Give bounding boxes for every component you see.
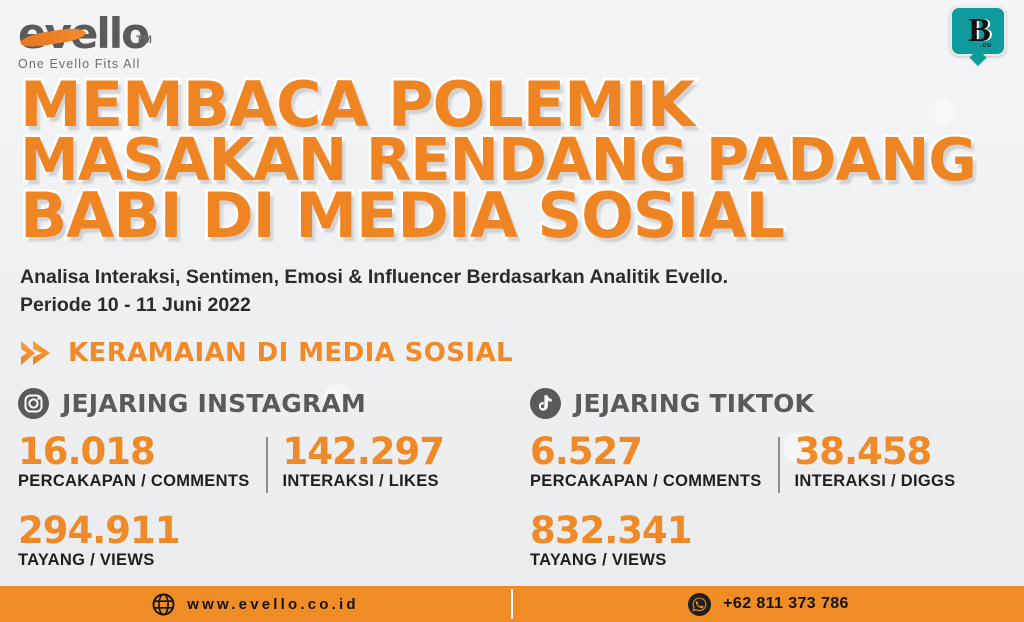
headline-block: MEMBACA POLEMIK MASAKAN RENDANG PADANG B… — [20, 76, 1004, 244]
double-chevron-right-icon — [20, 338, 54, 368]
subtitle-line-1: Analisa Interaksi, Sentimen, Emosi & Inf… — [20, 264, 1000, 292]
tiktok-icon — [530, 388, 561, 419]
stat-label: INTERAKSI / DIGGS — [795, 472, 956, 491]
stat-diggs-tiktok: 38.458 INTERAKSI / DIGGS — [795, 433, 956, 491]
network-header-instagram: JEJARING INSTAGRAM — [18, 388, 518, 419]
footer-website[interactable]: www.evello.co.id — [0, 586, 511, 622]
stat-label: INTERAKSI / LIKES — [283, 472, 445, 491]
stat-label: TAYANG / VIEWS — [18, 551, 518, 570]
stat-divider — [266, 437, 268, 493]
stat-label: PERCAKAPAN / COMMENTS — [18, 472, 250, 491]
stat-value: 38.458 — [795, 433, 956, 471]
partner-badge: B .co — [950, 6, 1006, 68]
globe-icon — [152, 593, 175, 616]
stat-label: TAYANG / VIEWS — [530, 551, 1020, 570]
stat-views-tiktok: 832.341 TAYANG / VIEWS — [530, 512, 1020, 570]
network-name-instagram: JEJARING INSTAGRAM — [62, 389, 366, 418]
stat-value: 294.911 — [18, 512, 518, 550]
stat-comments-tiktok: 6.527 PERCAKAPAN / COMMENTS — [530, 433, 762, 491]
stat-row-tiktok: 6.527 PERCAKAPAN / COMMENTS 38.458 INTER… — [530, 433, 1020, 497]
instagram-icon — [18, 388, 49, 419]
infographic-canvas: evello TM One Evello Fits All B .co MEMB… — [0, 0, 1024, 622]
footer-bar: www.evello.co.id +62 811 373 786 — [0, 586, 1024, 622]
headline-line-3: BABI DI MEDIA SOSIAL — [20, 187, 1004, 244]
footer-whatsapp[interactable]: +62 811 373 786 — [513, 586, 1024, 622]
network-column-instagram: JEJARING INSTAGRAM 16.018 PERCAKAPAN / C… — [18, 388, 518, 570]
stat-divider — [778, 437, 780, 493]
website-url[interactable]: www.evello.co.id — [187, 596, 359, 613]
network-column-tiktok: JEJARING TIKTOK 6.527 PERCAKAPAN / COMME… — [530, 388, 1020, 570]
stat-value: 6.527 — [530, 433, 762, 471]
stat-label: PERCAKAPAN / COMMENTS — [530, 472, 762, 491]
section-heading: KERAMAIAN DI MEDIA SOSIAL — [20, 338, 513, 368]
subtitle-line-2: Periode 10 - 11 Juni 2022 — [20, 292, 1000, 320]
stat-value: 142.297 — [283, 433, 445, 471]
stat-views-instagram: 294.911 TAYANG / VIEWS — [18, 512, 518, 570]
evello-logo: evello TM One Evello Fits All — [18, 12, 198, 71]
badge-body: B — [950, 6, 1006, 56]
whatsapp-icon — [688, 593, 711, 616]
stat-likes-instagram: 142.297 INTERAKSI / LIKES — [283, 433, 445, 491]
subtitle-block: Analisa Interaksi, Sentimen, Emosi & Inf… — [20, 264, 1000, 319]
network-header-tiktok: JEJARING TIKTOK — [530, 388, 1020, 419]
badge-sub-label: .co — [980, 42, 992, 49]
stat-value: 16.018 — [18, 433, 250, 471]
trademark-label: TM — [136, 18, 152, 62]
section-title: KERAMAIAN DI MEDIA SOSIAL — [68, 338, 513, 368]
stat-value: 832.341 — [530, 512, 1020, 550]
network-name-tiktok: JEJARING TIKTOK — [574, 389, 814, 418]
logo-wordmark: evello TM — [18, 12, 198, 56]
whatsapp-phone[interactable]: +62 811 373 786 — [723, 595, 849, 613]
stat-comments-instagram: 16.018 PERCAKAPAN / COMMENTS — [18, 433, 250, 491]
stat-row-instagram: 16.018 PERCAKAPAN / COMMENTS 142.297 INT… — [18, 433, 518, 497]
